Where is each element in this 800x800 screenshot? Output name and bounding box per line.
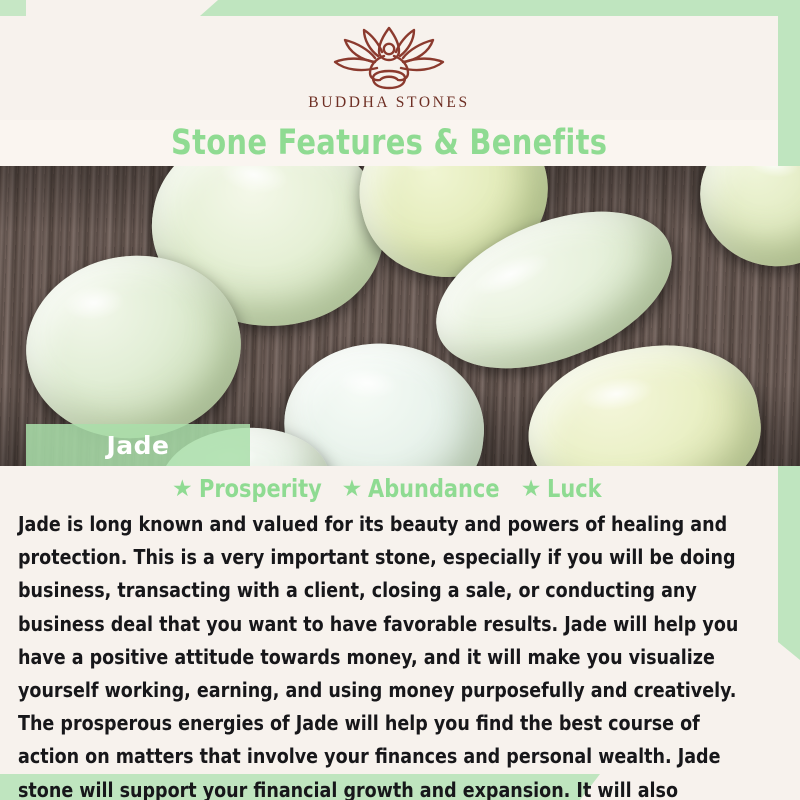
stone-photo — [0, 166, 800, 466]
stone-name-bar: Jade — [26, 424, 250, 466]
lotus-meditation-figure-icon — [315, 24, 463, 90]
title-banner: Stone Features & Benefits — [0, 120, 778, 166]
poster-canvas: BUDDHA STONES Stone Features & Benefits … — [0, 0, 800, 800]
benefit-label: Prosperity — [199, 476, 322, 501]
star-icon: ★ — [342, 477, 363, 500]
benefit-item: ★ Luck — [521, 476, 606, 501]
stone-name-label: Jade — [106, 431, 169, 460]
brand-name: BUDDHA STONES — [308, 94, 469, 112]
page-title: Stone Features & Benefits — [171, 126, 607, 161]
description-paragraph: Jade is long known and valued for its be… — [18, 508, 746, 800]
decorative-band-top — [200, 0, 800, 16]
star-icon: ★ — [521, 477, 542, 500]
benefit-item: ★ Abundance — [342, 476, 510, 501]
star-icon: ★ — [172, 477, 193, 500]
benefit-item: ★ Prosperity — [172, 476, 331, 501]
brand-header: BUDDHA STONES — [0, 16, 778, 120]
benefits-row: ★ Prosperity ★ Abundance ★ Luck — [0, 476, 778, 501]
benefit-label: Luck — [547, 476, 602, 501]
benefit-label: Abundance — [368, 476, 500, 501]
